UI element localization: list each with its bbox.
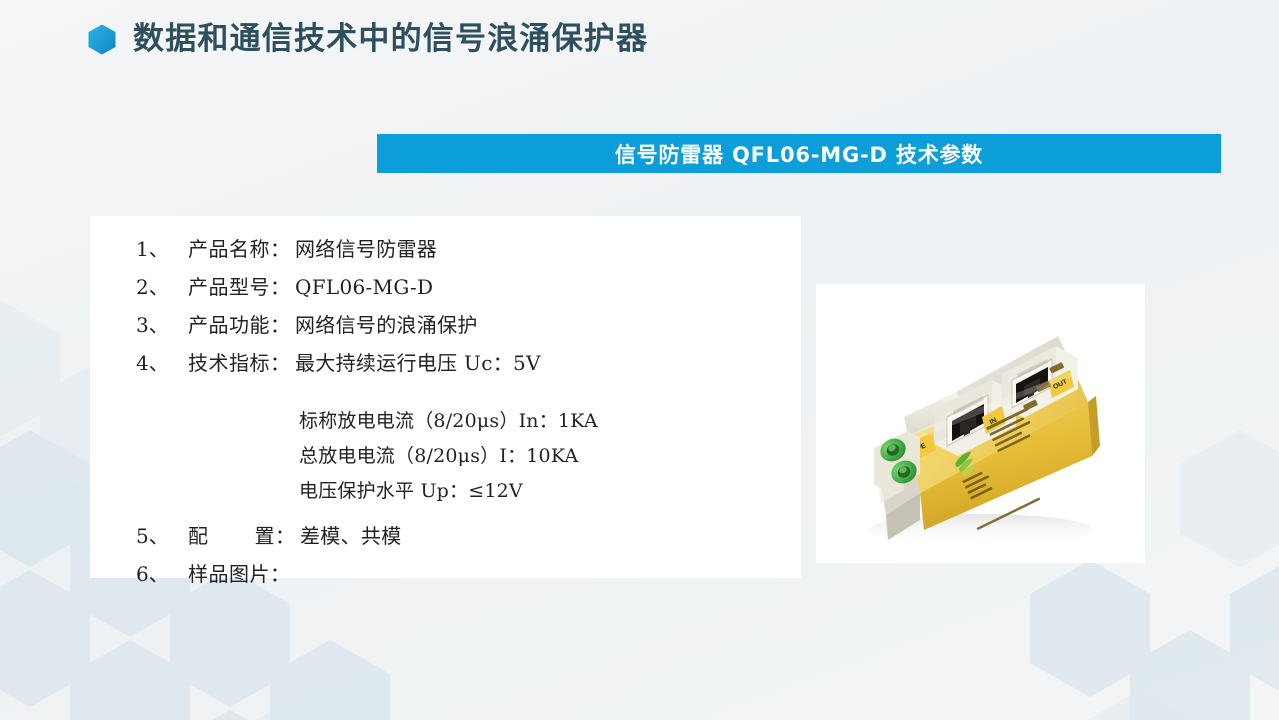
spec-item-4-value: 最大持续运行电压 Uc：5V bbox=[290, 344, 541, 382]
slide-canvas: 数据和通信技术中的信号浪涌保护器 信号防雷器 QFL06-MG-D 技术参数 1… bbox=[0, 0, 1279, 720]
spec-header-title: 信号防雷器 QFL06-MG-D 技术参数 bbox=[615, 139, 983, 169]
surge-protector-device-illustration: IN OUT PE bbox=[816, 284, 1145, 563]
spec-item-2-index: 2、 bbox=[136, 268, 188, 306]
page-title: 数据和通信技术中的信号浪涌保护器 bbox=[133, 24, 648, 55]
spec-item-1-label: 产品名称 bbox=[188, 230, 270, 268]
spec-item-4-label: 技术指标 bbox=[188, 344, 270, 382]
spec-header-bar: 信号防雷器 QFL06-MG-D 技术参数 bbox=[377, 134, 1221, 173]
page-title-row: 数据和通信技术中的信号浪涌保护器 bbox=[88, 24, 648, 55]
hexagon-icon bbox=[88, 24, 116, 55]
spec-item-4-colon: ： bbox=[270, 344, 290, 382]
spec-item-3-value: 网络信号的浪涌保护 bbox=[290, 306, 478, 344]
spec-item-5-colon: ： bbox=[275, 517, 295, 555]
spec-item-4: 4、 技术指标 ： 最大持续运行电压 Uc：5V bbox=[136, 344, 791, 382]
spec-item-2-label: 产品型号 bbox=[188, 268, 270, 306]
spec-item-6-colon: ： bbox=[270, 555, 290, 593]
spec-item-6-label: 样品图片 bbox=[188, 555, 270, 593]
spec-item-5-label-b: 置 bbox=[255, 517, 276, 555]
spec-item-1-colon: ： bbox=[270, 230, 290, 268]
spec-item-5-index: 5、 bbox=[136, 517, 188, 555]
spec-item-6: 6、 样品图片 ： bbox=[136, 555, 791, 593]
spec-panel: 1、 产品名称 ： 网络信号防雷器 2、 产品型号 ： QFL06-MG-D 3… bbox=[90, 216, 801, 578]
spec-item-5-value: 差模、共模 bbox=[295, 517, 402, 555]
spec-item-3-index: 3、 bbox=[136, 306, 188, 344]
spec-item-2-colon: ： bbox=[270, 268, 290, 306]
product-photo: IN OUT PE bbox=[816, 284, 1145, 563]
spec-item-1: 1、 产品名称 ： 网络信号防雷器 bbox=[136, 230, 791, 268]
spec-sub-item-voltage-protection-level: 电压保护水平 Up：≤12V bbox=[136, 474, 791, 509]
spec-item-3: 3、 产品功能 ： 网络信号的浪涌保护 bbox=[136, 306, 791, 344]
spec-item-1-value: 网络信号防雷器 bbox=[290, 230, 437, 268]
spec-sub-item-total-discharge-current: 总放电电流（8/20μs）I：10KA bbox=[136, 439, 791, 474]
spec-item-5-label-a: 配 bbox=[188, 517, 209, 555]
spec-item-3-colon: ： bbox=[270, 306, 290, 344]
spec-sub-list: 标称放电电流（8/20μs）In：1KA 总放电电流（8/20μs）I：10KA… bbox=[136, 382, 791, 517]
spec-item-4-index: 4、 bbox=[136, 344, 188, 382]
spec-item-5: 5、 配 置 ： 差模、共模 bbox=[136, 517, 791, 555]
spec-item-6-index: 6、 bbox=[136, 555, 188, 593]
spec-list: 1、 产品名称 ： 网络信号防雷器 2、 产品型号 ： QFL06-MG-D 3… bbox=[136, 230, 791, 593]
spec-item-2-value: QFL06-MG-D bbox=[290, 268, 433, 306]
spec-item-3-label: 产品功能 bbox=[188, 306, 270, 344]
spec-item-2: 2、 产品型号 ： QFL06-MG-D bbox=[136, 268, 791, 306]
spec-item-1-index: 1、 bbox=[136, 230, 188, 268]
spec-sub-item-nominal-discharge-current: 标称放电电流（8/20μs）In：1KA bbox=[136, 404, 791, 439]
